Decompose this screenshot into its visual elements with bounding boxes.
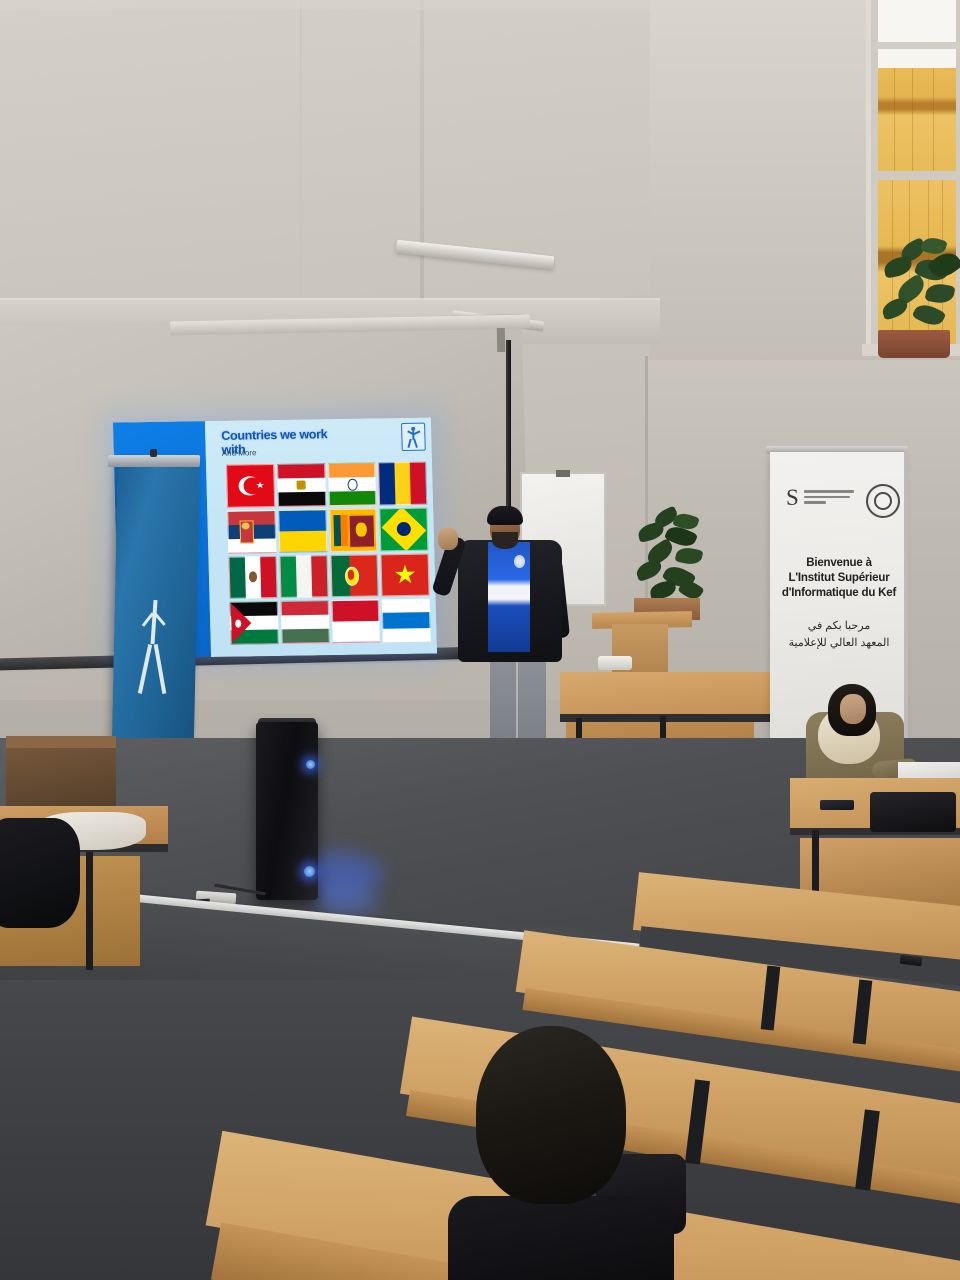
seated-attendee-face bbox=[840, 694, 866, 724]
banner-right-arabic: مرحبا بكم في المعهد العالي للإعلامية bbox=[778, 618, 900, 652]
welcome-line-2: L'Institut Supérieur bbox=[778, 571, 900, 586]
banner-right-pole bbox=[904, 450, 908, 780]
cardboard-box-flap bbox=[6, 736, 116, 748]
window-divider-upper bbox=[874, 42, 960, 49]
flag-indonesia bbox=[331, 600, 380, 643]
welcome-line-1: Bienvenue à bbox=[778, 556, 900, 571]
lecture-hall-photo: Countries we work with And More bbox=[0, 0, 960, 1280]
desk-right-upper-edge bbox=[560, 714, 772, 722]
dark-jacket bbox=[0, 818, 80, 928]
foreground-desk-leg bbox=[86, 852, 93, 970]
wall-seam bbox=[420, 0, 424, 342]
welcome-line-3: d'Informatique du Kef bbox=[778, 586, 900, 601]
wall-seam-secondary bbox=[300, 0, 302, 330]
flag-hungary bbox=[280, 600, 329, 643]
presenter-hand bbox=[438, 528, 458, 550]
windowsill-plant-leaves bbox=[876, 238, 960, 338]
potted-plant-leaves bbox=[632, 508, 706, 604]
flag-italy bbox=[279, 555, 328, 598]
presenter-beard bbox=[492, 532, 518, 549]
presenter-beanie bbox=[487, 506, 523, 525]
flag-romania bbox=[378, 462, 427, 505]
speaker-led-upper bbox=[306, 760, 315, 769]
flag-serbia bbox=[227, 510, 276, 553]
flag-sri-lanka bbox=[329, 508, 378, 551]
flag-mexico bbox=[228, 555, 277, 598]
projector-on-desk bbox=[598, 656, 632, 670]
student-head bbox=[476, 1026, 626, 1204]
institut-superieur-logo-text bbox=[804, 490, 856, 507]
flag-grid bbox=[226, 462, 431, 645]
arabic-line-2: المعهد العالي للإعلامية bbox=[778, 635, 900, 652]
window-divider-lower bbox=[874, 171, 960, 180]
window-pane-top bbox=[878, 0, 956, 42]
circular-seal-logo-inner bbox=[874, 492, 892, 510]
flag-vietnam bbox=[381, 553, 430, 596]
mobile-phone bbox=[820, 800, 854, 810]
whiteboard-clip bbox=[556, 470, 570, 477]
presenter-jersey-badge bbox=[514, 555, 525, 568]
black-bag bbox=[870, 792, 956, 832]
projection-screen-bracket bbox=[497, 328, 505, 352]
flag-honduras bbox=[382, 599, 431, 642]
student-shoulders bbox=[448, 1196, 674, 1280]
flag-brazil bbox=[380, 507, 429, 550]
walking-person-icon bbox=[401, 423, 426, 451]
flag-jordan bbox=[230, 601, 279, 644]
flag-portugal bbox=[330, 554, 379, 597]
banner-right-welcome: Bienvenue à L'Institut Supérieur d'Infor… bbox=[778, 556, 900, 601]
flag-turkey bbox=[226, 464, 275, 507]
cardboard-box bbox=[6, 740, 116, 806]
flag-egypt bbox=[277, 463, 326, 506]
institut-superieur-logo: S bbox=[786, 487, 801, 509]
speaker-led-lower bbox=[304, 866, 315, 877]
arabic-line-1: مرحبا بكم في bbox=[778, 618, 900, 635]
walking-person-white-logo bbox=[140, 600, 168, 712]
banner-left-knob bbox=[150, 449, 157, 457]
desk-right-upper bbox=[560, 672, 772, 718]
flag-india bbox=[328, 462, 377, 505]
window-curtain-middle bbox=[878, 68, 956, 171]
slide-subtitle: And More bbox=[222, 448, 257, 458]
flag-ukraine bbox=[278, 509, 327, 552]
ceiling-band bbox=[0, 0, 680, 10]
